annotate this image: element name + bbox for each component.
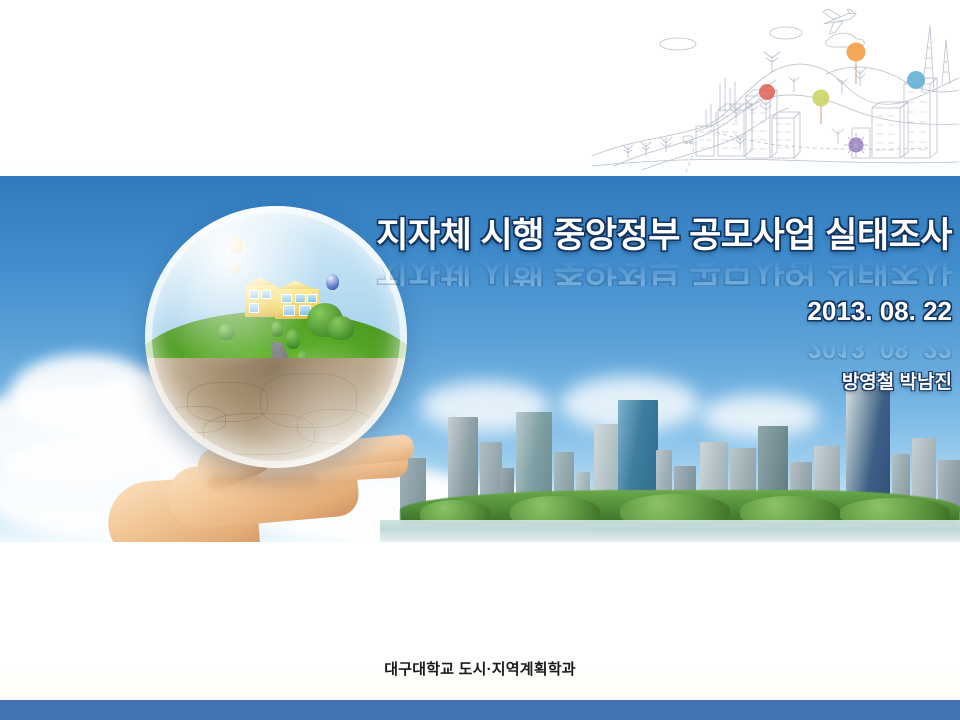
tree: [328, 316, 354, 340]
tree: [271, 321, 283, 337]
glass-sphere: [145, 206, 407, 468]
page-title-reflection: 지자체 시행 중앙정부 공모사업 실태조사: [376, 251, 952, 286]
presentation-date-reflection: 2013. 08. 22: [376, 336, 952, 362]
top-decorative-band: [0, 0, 960, 176]
page-title: 지자체 시행 중앙정부 공모사업 실태조사: [376, 218, 952, 253]
tree-blue: [907, 71, 925, 89]
bottom-accent-bar: [0, 700, 960, 720]
tree-purple: [844, 133, 868, 157]
presentation-date: 2013. 08. 22: [376, 298, 952, 324]
sphere-map-base: [145, 358, 407, 468]
presentation-title-slide: 지자체 시행 중앙정부 공모사업 실태조사 지자체 시행 중앙정부 공모사업 실…: [0, 0, 960, 720]
hero-image: 지자체 시행 중앙정부 공모사업 실태조사 지자체 시행 중앙정부 공모사업 실…: [0, 176, 960, 542]
title-block: 지자체 시행 중앙정부 공모사업 실태조사 지자체 시행 중앙정부 공모사업 실…: [376, 218, 952, 392]
tree-green: [813, 90, 830, 107]
hot-air-balloon: [231, 264, 239, 273]
tree: [286, 329, 300, 349]
city-landscape-sketch-icon: [590, 0, 960, 176]
hot-air-balloon: [229, 237, 243, 254]
tree-red: [759, 84, 775, 100]
tree: [218, 324, 234, 340]
presentation-authors: 방영철 박남진: [376, 373, 952, 392]
hot-air-balloon: [326, 274, 339, 290]
footer-area: 대구대학교 도시·지역계획학과: [0, 542, 960, 700]
waterfront: [380, 520, 960, 542]
tree-orange: [847, 43, 866, 62]
footer-organization: 대구대학교 도시·지역계획학과: [0, 658, 960, 679]
